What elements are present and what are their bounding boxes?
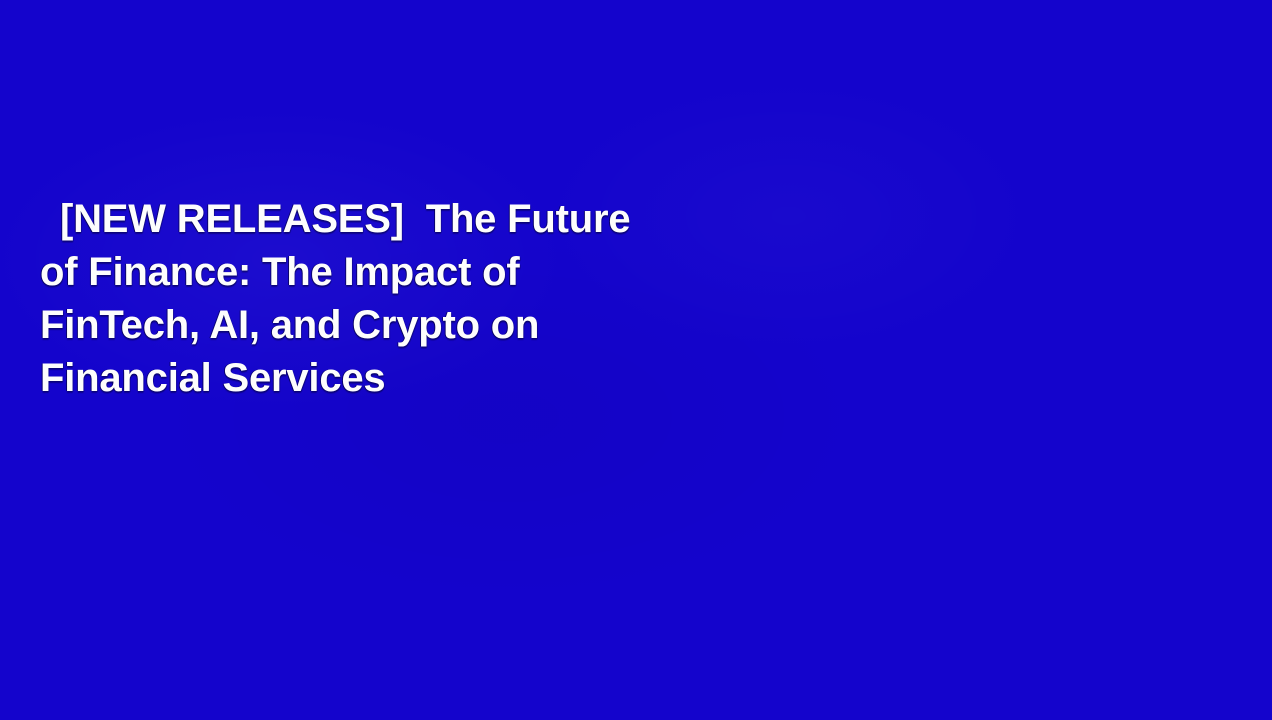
title-line-1: [NEW RELEASES] The Future: [40, 193, 820, 246]
title-line-4: Financial Services: [40, 352, 820, 405]
promo-banner: [NEW RELEASES] The Future of Finance: Th…: [0, 0, 1272, 720]
title-block: [NEW RELEASES] The Future of Finance: Th…: [40, 193, 820, 405]
title-line-3: FinTech, AI, and Crypto on: [40, 299, 820, 352]
title-line-2: of Finance: The Impact of: [40, 246, 820, 299]
